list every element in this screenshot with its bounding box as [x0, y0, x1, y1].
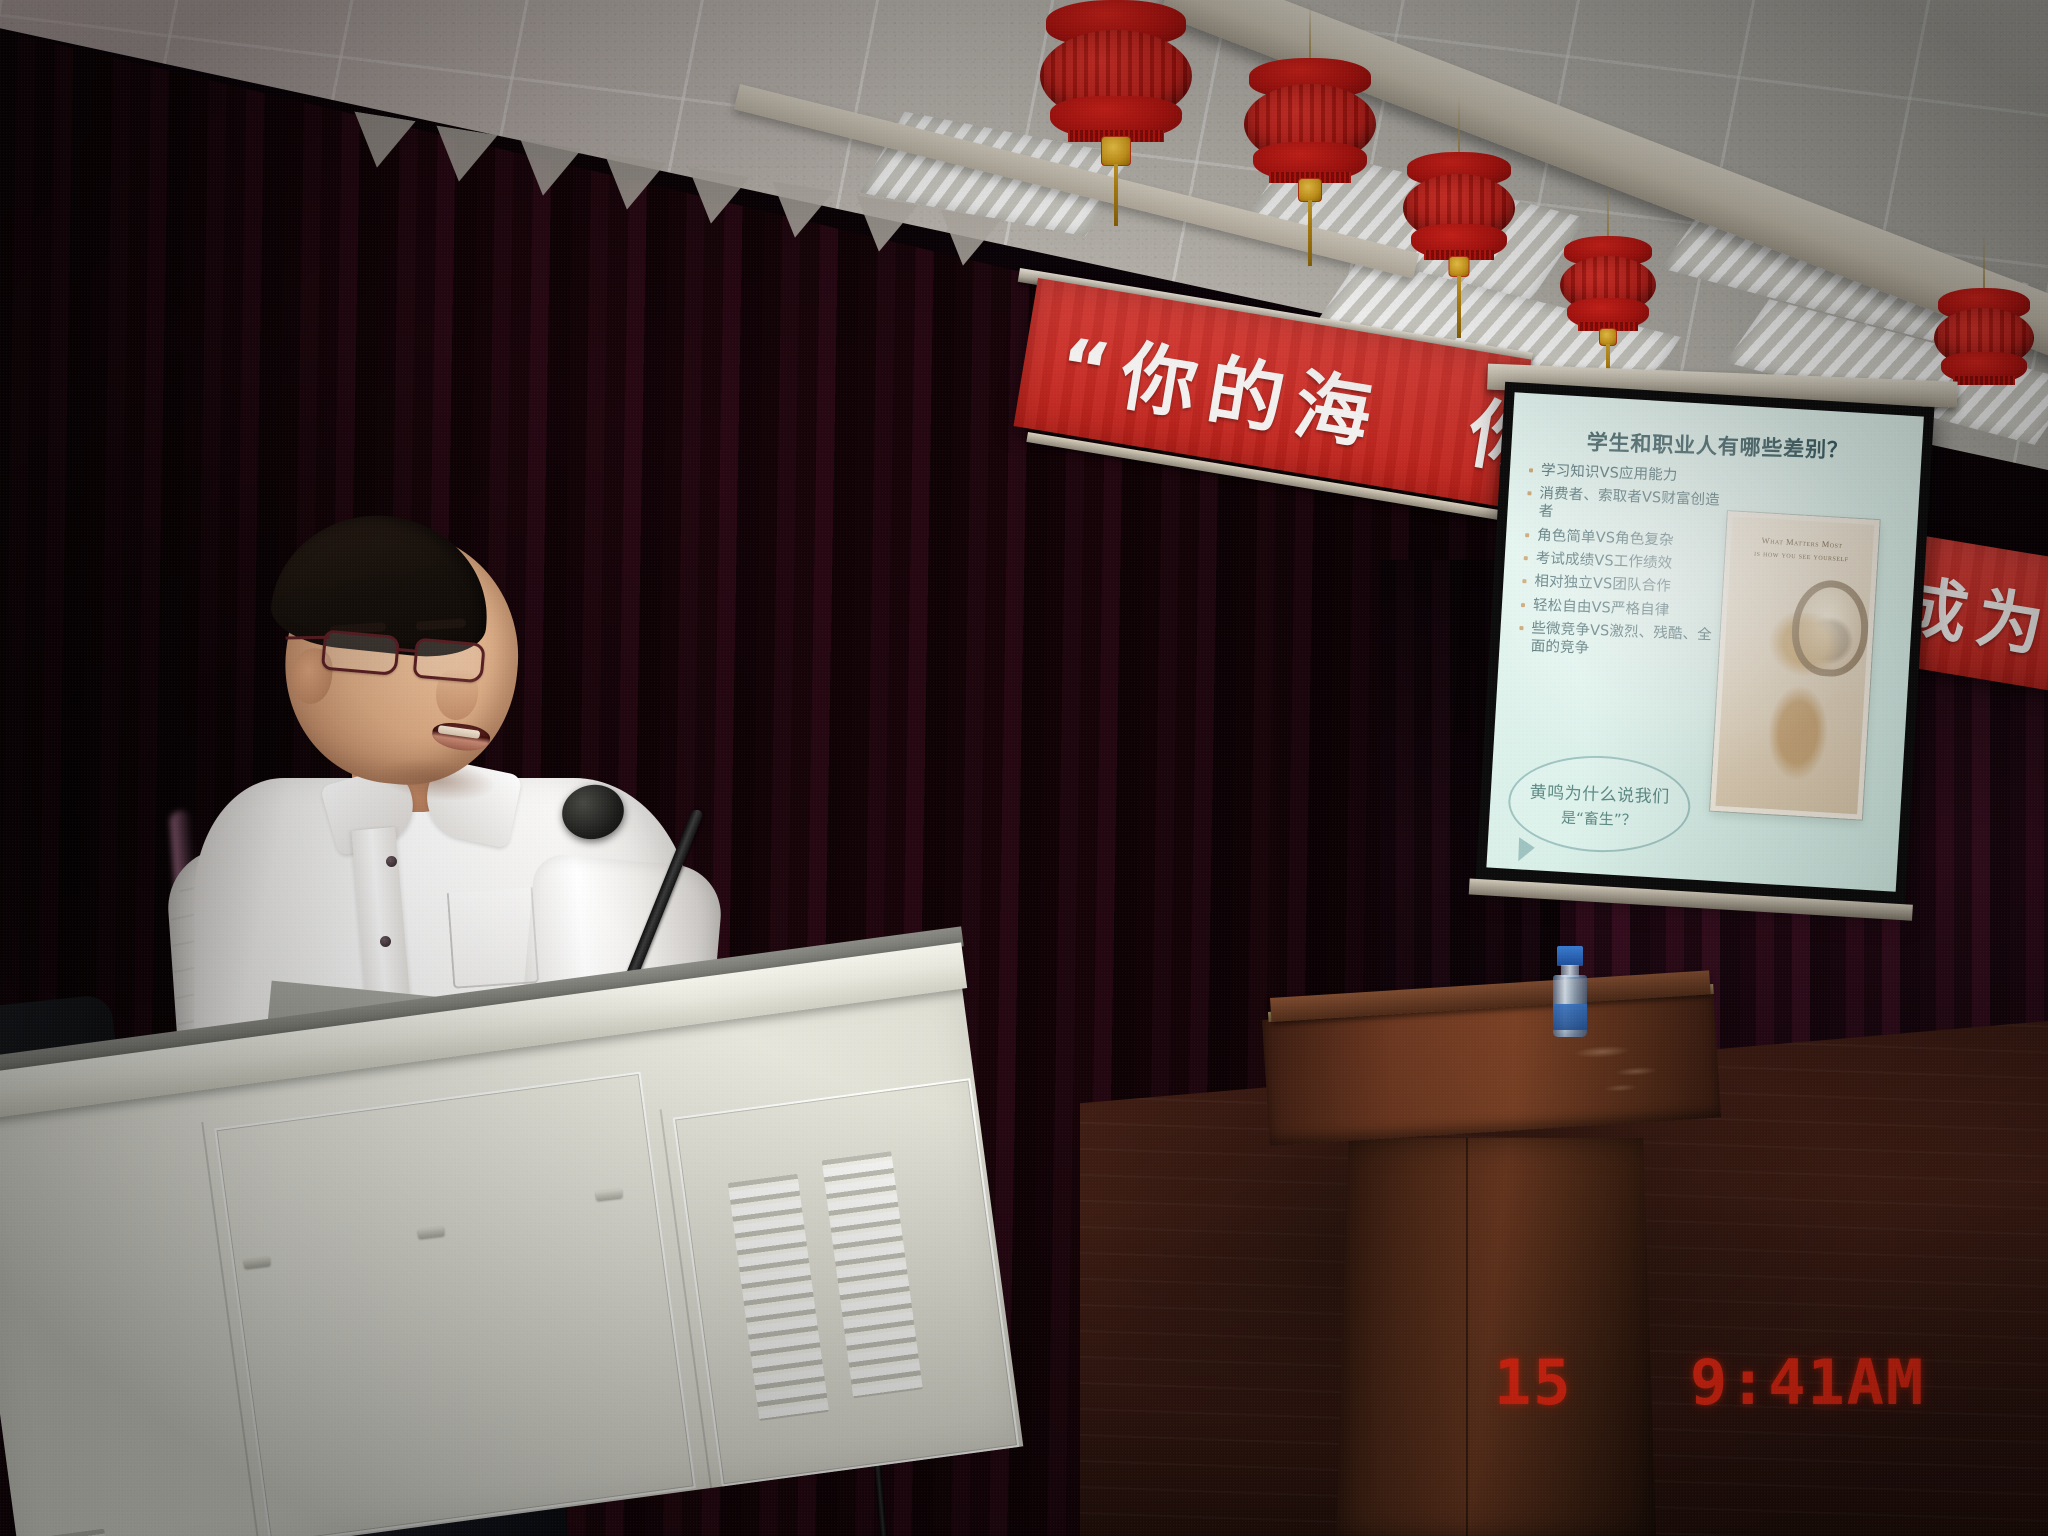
bottle-label: [1553, 1004, 1587, 1030]
lantern-fringe: [1953, 376, 2015, 385]
speech-bubble-line-1: 黄鸣为什么说我们: [1529, 777, 1670, 807]
presentation-slide: 学生和职业人有哪些差别？ 学习知识VS应用能力 消费者、索取者VS财富创造者 角…: [1486, 392, 1924, 891]
lantern-medallion: [1449, 256, 1470, 277]
lantern-cord: [1458, 96, 1460, 156]
slide-photo: What Matters Most is how you see yoursel…: [1710, 511, 1880, 819]
lantern-tassel: [1457, 276, 1461, 338]
chinese-lantern: [1400, 152, 1518, 278]
bottle-cap: [1557, 946, 1583, 966]
podium-scuff-marks: [1568, 1035, 1682, 1104]
glasses-lens-left: [321, 630, 400, 676]
shirt-button: [386, 856, 397, 867]
slide-bullet: 学习知识VS应用能力: [1528, 461, 1725, 487]
shirt-button: [380, 936, 391, 947]
lantern-medallion: [1101, 136, 1131, 166]
photo-scene: “你的海 你的 何成为职业人 学生和职业人有哪些差别？ 学习知识VS应用能力 消…: [0, 0, 2048, 1536]
slide-bullet: 些微竞争VS激烈、残酷、全面的竞争: [1517, 619, 1714, 663]
shirt-chest-pocket: [447, 887, 539, 989]
slide-bullet: 消费者、索取者VS财富创造者: [1525, 484, 1722, 528]
wooden-podium: [1270, 998, 1710, 1536]
lantern-tassel: [1114, 164, 1118, 226]
console-door-left[interactable]: [214, 1072, 696, 1536]
slide-photo-caption: What Matters Most is how you see yoursel…: [1730, 532, 1873, 566]
lantern-tassel: [1308, 200, 1312, 266]
lantern-medallion: [1298, 178, 1322, 202]
screen-surface: 学生和职业人有哪些差别？ 学习知识VS应用能力 消费者、索取者VS财富创造者 角…: [1486, 392, 1924, 891]
chinese-lantern: [1240, 58, 1380, 198]
projection-screen: 学生和职业人有哪些差别？ 学习知识VS应用能力 消费者、索取者VS财富创造者 角…: [1476, 382, 1935, 907]
slide-title: 学生和职业人有哪些差别？: [1529, 425, 1906, 467]
lantern-cord: [1983, 232, 1985, 292]
speech-bubble-line-2: 是“畜生”？: [1561, 806, 1637, 830]
glasses-bridge: [399, 648, 417, 653]
chinese-lantern: [1558, 236, 1658, 346]
slide-bullet: 角色简单VS角色复杂: [1524, 526, 1721, 552]
lantern-cord: [1309, 2, 1311, 62]
chinese-lantern: [1036, 0, 1196, 150]
slide-bullet: 轻松自由VS严格自律: [1520, 596, 1717, 622]
camera-timestamp: 15 9:41AM: [1494, 1346, 1925, 1419]
podium-seam: [1466, 1138, 1468, 1536]
slide-bullet: 相对独立VS团队合作: [1521, 572, 1718, 598]
slide-bullet: 考试成绩VS工作绩效: [1522, 549, 1719, 575]
console-vent-grille: [51, 1529, 112, 1536]
lantern-cord: [1607, 180, 1609, 240]
podium-column: [1336, 1138, 1656, 1536]
av-control-console: [0, 1100, 960, 1536]
